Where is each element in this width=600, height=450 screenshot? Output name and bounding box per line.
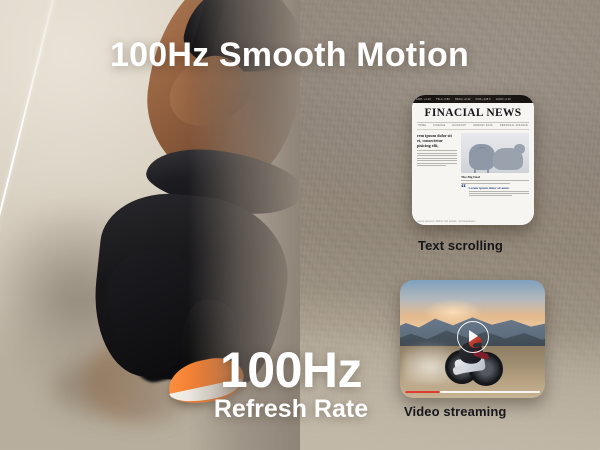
news-divider-secondary <box>417 129 529 130</box>
video-progress-fill <box>405 391 440 394</box>
bear-head <box>514 144 525 154</box>
news-divider <box>417 122 529 123</box>
news-nav-item[interactable]: ECONOMY <box>452 124 466 127</box>
news-quote-lines <box>469 191 530 197</box>
ticker-item: GOLD -3.10 <box>496 98 511 101</box>
ticker-item: NDAQ +0.42 <box>455 98 471 101</box>
refresh-rate-value: 100Hz <box>196 346 386 394</box>
news-footer: orem ipsum dolor sit amet, consectetu... <box>417 219 529 223</box>
news-image-caption: The Big Deal <box>461 175 529 179</box>
bull-leg <box>487 167 489 173</box>
news-ticker-bar: AAPL +1.24 TSLA -0.86 NDAQ +0.42 DJIA +1… <box>412 95 534 103</box>
news-footer-text: orem ipsum dolor sit amet, consectetu... <box>417 219 529 223</box>
bull-leg <box>474 167 476 173</box>
news-masthead: FINACIAL NEWS <box>417 107 529 120</box>
ticker-item: AAPL +1.24 <box>416 98 431 101</box>
promo-banner: 100Hz Smooth Motion 100Hz Refresh Rate A… <box>0 0 600 450</box>
ticker-item: TSLA -0.86 <box>436 98 450 101</box>
news-nav-item[interactable]: HOME <box>418 124 426 127</box>
bear-statue <box>493 148 523 170</box>
text-scrolling-card[interactable]: AAPL +1.24 TSLA -0.86 NDAQ +0.42 DJIA +1… <box>412 95 534 225</box>
refresh-rate-label: Refresh Rate <box>196 395 386 424</box>
bull-bear-image <box>461 133 529 173</box>
news-quote-text: Lorem ipsum dolor sit amet. <box>469 186 530 197</box>
video-progress-bar[interactable] <box>405 391 540 394</box>
news-quote-block: “ Lorem ipsum dolor sit amet. <box>461 186 529 197</box>
refresh-rate-stat: 100Hz Refresh Rate <box>196 346 386 424</box>
news-caption-lines <box>461 180 529 183</box>
news-nav[interactable]: HOME FINANCE ECONOMY MARKET DATA PERSONA… <box>417 124 529 127</box>
news-lead-paragraph: rem ipsum dolor sit et, consectetur pisi… <box>417 133 457 149</box>
page-title: 100Hz Smooth Motion <box>110 36 469 75</box>
news-nav-item[interactable]: PERSONAL FINANCE <box>500 124 528 127</box>
bull-statue <box>469 144 495 170</box>
news-body-lines <box>417 150 457 166</box>
video-streaming-caption: Video streaming <box>404 404 506 419</box>
quote-icon: “ <box>461 186 466 192</box>
news-quote-headline: Lorem ipsum dolor sit amet. <box>469 186 530 190</box>
news-left-column: rem ipsum dolor sit et, consectetur pisi… <box>417 133 457 197</box>
play-icon[interactable] <box>457 321 489 353</box>
news-nav-item[interactable]: FINANCE <box>433 124 445 127</box>
ticker-item: DJIA +118.5 <box>476 98 491 101</box>
news-body: FINACIAL NEWS HOME FINANCE ECONOMY MARKE… <box>412 103 534 225</box>
bull-horns <box>475 147 489 155</box>
news-nav-item[interactable]: MARKET DATA <box>474 124 493 127</box>
video-streaming-card[interactable] <box>400 280 545 398</box>
news-right-column: The Big Deal “ Lorem ipsum dolor sit ame… <box>461 133 529 197</box>
news-columns: rem ipsum dolor sit et, consectetur pisi… <box>417 133 529 197</box>
text-scrolling-caption: Text scrolling <box>418 238 503 253</box>
